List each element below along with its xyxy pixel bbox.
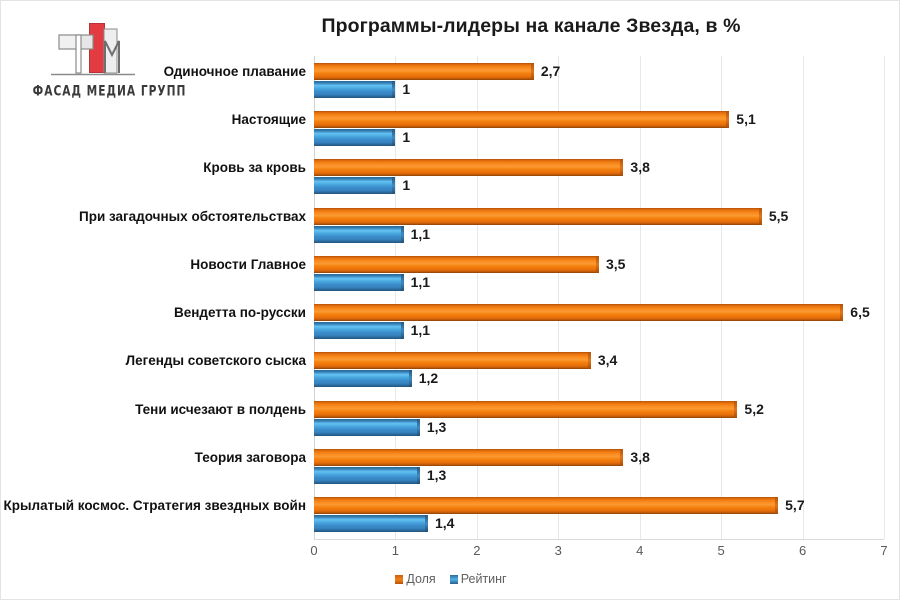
bar-end-cap — [417, 419, 420, 436]
bar-end-cap — [734, 401, 737, 418]
bar-value-label: 1,1 — [411, 322, 430, 339]
bar-value-label: 5,1 — [736, 111, 755, 128]
category-label: Одиночное плавание — [1, 64, 306, 79]
bar-end-cap — [392, 177, 395, 194]
bar-dolya[interactable]: 5,1 — [314, 111, 884, 128]
value-axis-tick-labels: 01234567 — [314, 543, 884, 563]
bar-value-label: 1 — [402, 129, 410, 146]
bar-value-label: 1,3 — [427, 467, 446, 484]
category-label: Новости Главное — [1, 257, 306, 272]
bar-fill — [314, 274, 404, 291]
bar-dolya[interactable]: 2,7 — [314, 63, 884, 80]
bar-end-cap — [531, 63, 534, 80]
bar-value-label: 3,8 — [630, 449, 649, 466]
bar-group: 2,71 — [314, 56, 884, 104]
bar-reyting[interactable]: 1,1 — [314, 322, 884, 339]
bar-fill — [314, 304, 843, 321]
bar-end-cap — [620, 159, 623, 176]
value-axis-tick-label: 0 — [299, 543, 329, 558]
bar-value-label: 1,4 — [435, 515, 454, 532]
category-label: Теория заговора — [1, 450, 306, 465]
bar-end-cap — [401, 226, 404, 243]
bar-group: 5,71,4 — [314, 491, 884, 539]
bar-fill — [314, 63, 534, 80]
bar-value-label: 1,1 — [411, 226, 430, 243]
bar-reyting[interactable]: 1,2 — [314, 370, 884, 387]
bar-value-label: 5,5 — [769, 208, 788, 225]
category-label: Кровь за кровь — [1, 160, 306, 175]
bar-reyting[interactable]: 1 — [314, 81, 884, 98]
bar-fill — [314, 208, 762, 225]
bar-reyting[interactable]: 1 — [314, 129, 884, 146]
category-label: Тени исчезают в полдень — [1, 402, 306, 417]
bar-end-cap — [425, 515, 428, 532]
bar-fill — [314, 129, 395, 146]
bar-fill — [314, 467, 420, 484]
bar-dolya[interactable]: 5,5 — [314, 208, 884, 225]
bar-value-label: 1,3 — [427, 419, 446, 436]
plot-area: 2,715,113,815,51,13,51,16,51,13,41,25,21… — [314, 56, 884, 539]
bar-group: 5,51,1 — [314, 201, 884, 249]
bar-fill — [314, 177, 395, 194]
bar-value-label: 5,7 — [785, 497, 804, 514]
bar-value-label: 3,8 — [630, 159, 649, 176]
value-axis-tick-label: 5 — [706, 543, 736, 558]
legend-item-reyting[interactable]: Рейтинг — [450, 572, 507, 586]
bar-value-label: 5,2 — [744, 401, 763, 418]
bar-end-cap — [775, 497, 778, 514]
category-axis-labels: Одиночное плаваниеНастоящиеКровь за кров… — [1, 56, 306, 539]
bar-reyting[interactable]: 1,1 — [314, 226, 884, 243]
value-axis-tick-label: 2 — [462, 543, 492, 558]
bar-dolya[interactable]: 3,4 — [314, 352, 884, 369]
bar-end-cap — [596, 256, 599, 273]
bar-fill — [314, 401, 737, 418]
category-axis-line — [314, 539, 884, 540]
bar-dolya[interactable]: 3,8 — [314, 159, 884, 176]
bar-end-cap — [401, 274, 404, 291]
bar-reyting[interactable]: 1,4 — [314, 515, 884, 532]
bar-dolya[interactable]: 3,5 — [314, 256, 884, 273]
value-axis-tick-label: 6 — [788, 543, 818, 558]
bar-value-label: 1,1 — [411, 274, 430, 291]
bar-reyting[interactable]: 1,3 — [314, 419, 884, 436]
legend-label: Доля — [406, 572, 435, 586]
bar-value-label: 3,5 — [606, 256, 625, 273]
bar-end-cap — [588, 352, 591, 369]
bar-value-label: 1,2 — [419, 370, 438, 387]
legend-swatch-icon — [395, 575, 403, 584]
category-label: Крылатый космос. Стратегия звездных войн — [1, 498, 306, 513]
bar-end-cap — [401, 322, 404, 339]
bar-end-cap — [392, 81, 395, 98]
legend-label: Рейтинг — [461, 572, 507, 586]
bar-value-label: 1 — [402, 81, 410, 98]
value-axis-tick-label: 7 — [869, 543, 899, 558]
bar-end-cap — [759, 208, 762, 225]
bar-fill — [314, 370, 412, 387]
bar-value-label: 1 — [402, 177, 410, 194]
bar-fill — [314, 81, 395, 98]
bar-fill — [314, 111, 729, 128]
bar-dolya[interactable]: 5,2 — [314, 401, 884, 418]
bar-group: 3,51,1 — [314, 249, 884, 297]
bar-value-label: 3,4 — [598, 352, 617, 369]
value-axis-tick-label: 3 — [543, 543, 573, 558]
bar-reyting[interactable]: 1,1 — [314, 274, 884, 291]
bar-group: 5,11 — [314, 104, 884, 152]
value-axis-tick-label: 1 — [380, 543, 410, 558]
bar-fill — [314, 256, 599, 273]
bar-fill — [314, 449, 623, 466]
bar-group: 3,81,3 — [314, 442, 884, 490]
gridline — [884, 56, 885, 539]
bar-fill — [314, 159, 623, 176]
bar-dolya[interactable]: 3,8 — [314, 449, 884, 466]
category-label: Вендетта по-русски — [1, 305, 306, 320]
value-axis-tick-label: 4 — [625, 543, 655, 558]
bar-fill — [314, 419, 420, 436]
bar-end-cap — [840, 304, 843, 321]
category-label: При загадочных обстоятельствах — [1, 209, 306, 224]
bar-group: 5,21,3 — [314, 394, 884, 442]
bar-dolya[interactable]: 6,5 — [314, 304, 884, 321]
bar-end-cap — [417, 467, 420, 484]
bar-dolya[interactable]: 5,7 — [314, 497, 884, 514]
bar-end-cap — [620, 449, 623, 466]
bar-group: 3,41,2 — [314, 346, 884, 394]
legend-item-dolya[interactable]: Доля — [395, 572, 435, 586]
category-label: Легенды советского сыска — [1, 353, 306, 368]
bar-end-cap — [392, 129, 395, 146]
chart-legend: ДоляРейтинг — [1, 572, 900, 586]
bar-reyting[interactable]: 1 — [314, 177, 884, 194]
bar-group: 3,81 — [314, 153, 884, 201]
bar-fill — [314, 226, 404, 243]
bar-end-cap — [409, 370, 412, 387]
legend-swatch-icon — [450, 575, 458, 584]
bar-end-cap — [726, 111, 729, 128]
page-title: Программы-лидеры на канале Звезда, в % — [171, 15, 891, 38]
bar-fill — [314, 497, 778, 514]
bar-group: 6,51,1 — [314, 298, 884, 346]
bar-fill — [314, 352, 591, 369]
category-label: Настоящие — [1, 112, 306, 127]
bar-reyting[interactable]: 1,3 — [314, 467, 884, 484]
bar-fill — [314, 322, 404, 339]
bar-value-label: 6,5 — [850, 304, 869, 321]
bar-fill — [314, 515, 428, 532]
bar-value-label: 2,7 — [541, 63, 560, 80]
chart-page: ФАСАД МЕДИА ГРУПП Программы-лидеры на ка… — [0, 0, 900, 600]
